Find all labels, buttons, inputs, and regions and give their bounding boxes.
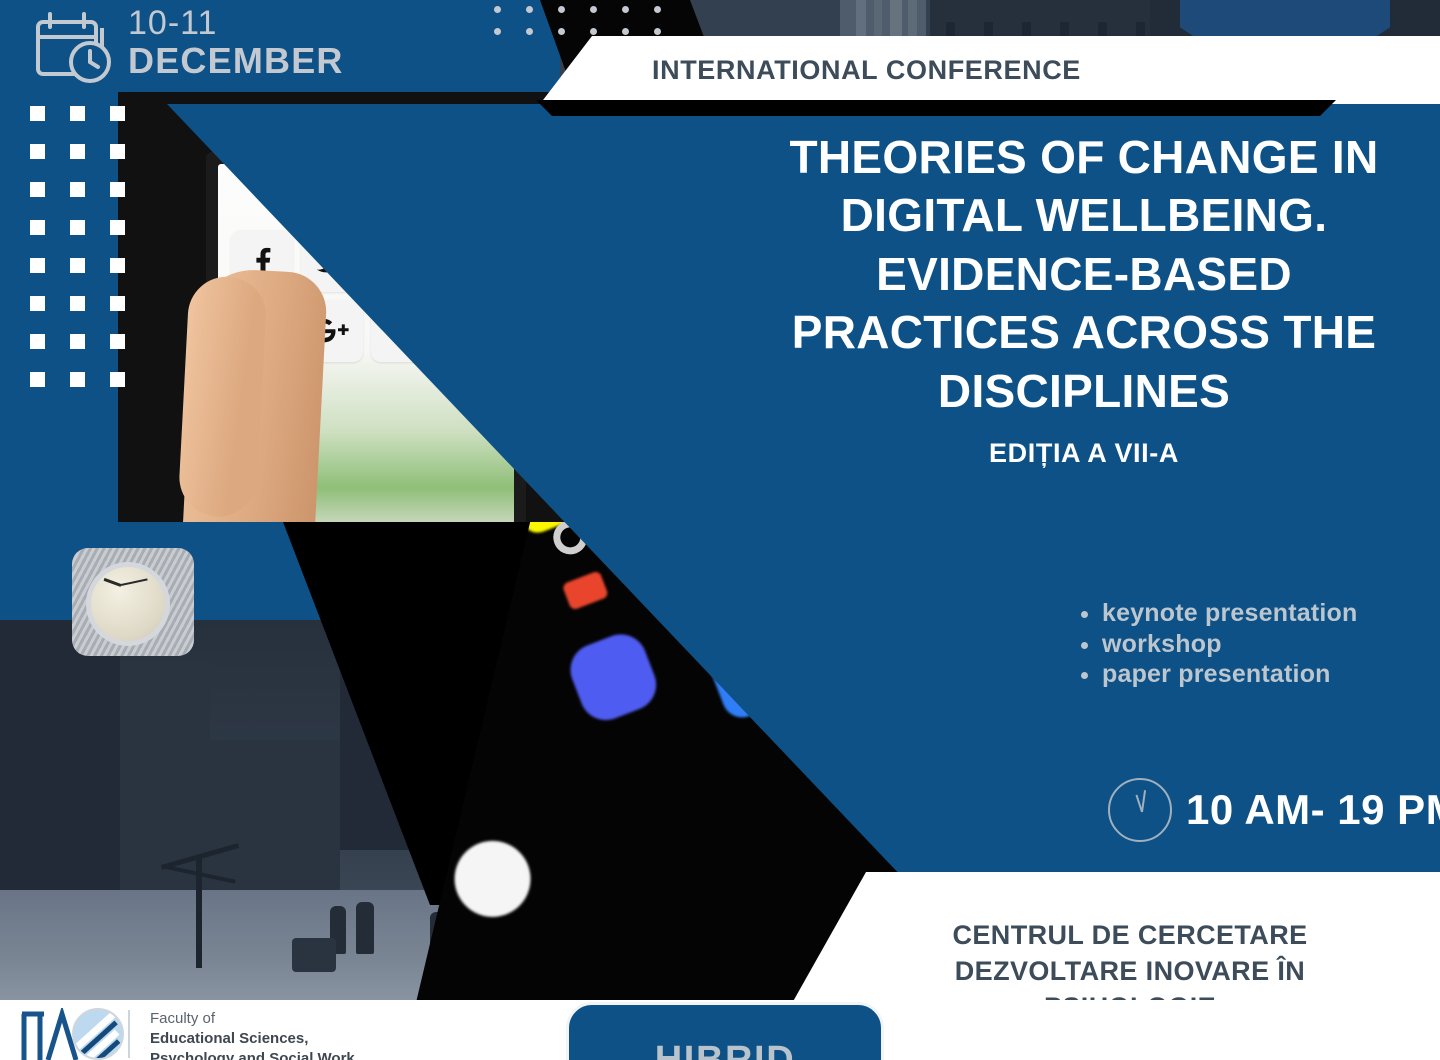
- footer-divider: [128, 1010, 130, 1058]
- faculty-line-2: Educational Sciences,: [150, 1029, 355, 1049]
- organizer-line-1: CENTRUL DE CERCETARE: [880, 918, 1380, 954]
- event-time-row: 10 AM- 19 PM: [1108, 778, 1440, 842]
- format-badge-label: HIBRID: [655, 1039, 796, 1060]
- faculty-line-3: Psychology and Social Work: [150, 1049, 355, 1060]
- list-item: paper presentation: [1102, 659, 1440, 690]
- title-line-5: DISCIPLINES: [744, 362, 1424, 420]
- uaic-footer-logo: Faculty of Educational Sciences, Psychol…: [18, 1008, 355, 1060]
- list-item: keynote presentation: [1102, 598, 1440, 629]
- left-hand: [160, 267, 328, 522]
- date-month: DECEMBER: [128, 40, 344, 82]
- left-dot-grid: [30, 106, 150, 410]
- main-title-block: THEORIES OF CHANGE IN DIGITAL WELLBEING.…: [744, 128, 1424, 469]
- header-banner-label: INTERNATIONAL CONFERENCE: [652, 36, 1081, 104]
- list-item: workshop: [1102, 629, 1440, 660]
- format-badge: HIBRID: [566, 1002, 884, 1060]
- title-line-2: DIGITAL WELLBEING.: [744, 186, 1424, 244]
- calendar-clock-icon: [28, 10, 120, 91]
- conference-poster: Spotify Snapchat: [0, 0, 1440, 1060]
- header-black-sliver: [536, 100, 1336, 116]
- top-dot-grid: [494, 6, 686, 50]
- seal-circle-icon: [72, 1008, 124, 1060]
- uaic-seal-logo: [18, 1008, 110, 1060]
- date-badge: 10-11 DECEMBER: [18, 4, 358, 86]
- organizer-line-2: DEZVOLTARE INOVARE ÎN: [880, 954, 1380, 990]
- edition-label: EDIȚIA A VII-A: [744, 438, 1424, 469]
- date-days: 10-11: [128, 4, 217, 43]
- wristwatch: [72, 548, 194, 656]
- faculty-line-1: Faculty of: [150, 1009, 355, 1029]
- event-time-label: 10 AM- 19 PM: [1186, 786, 1440, 834]
- title-line-3: EVIDENCE-BASED: [744, 245, 1424, 303]
- clock-icon: [1108, 778, 1172, 842]
- title-line-1: THEORIES OF CHANGE IN: [744, 128, 1424, 186]
- activities-list: keynote presentation workshop paper pres…: [1068, 598, 1440, 690]
- title-line-4: PRACTICES ACROSS THE: [744, 303, 1424, 361]
